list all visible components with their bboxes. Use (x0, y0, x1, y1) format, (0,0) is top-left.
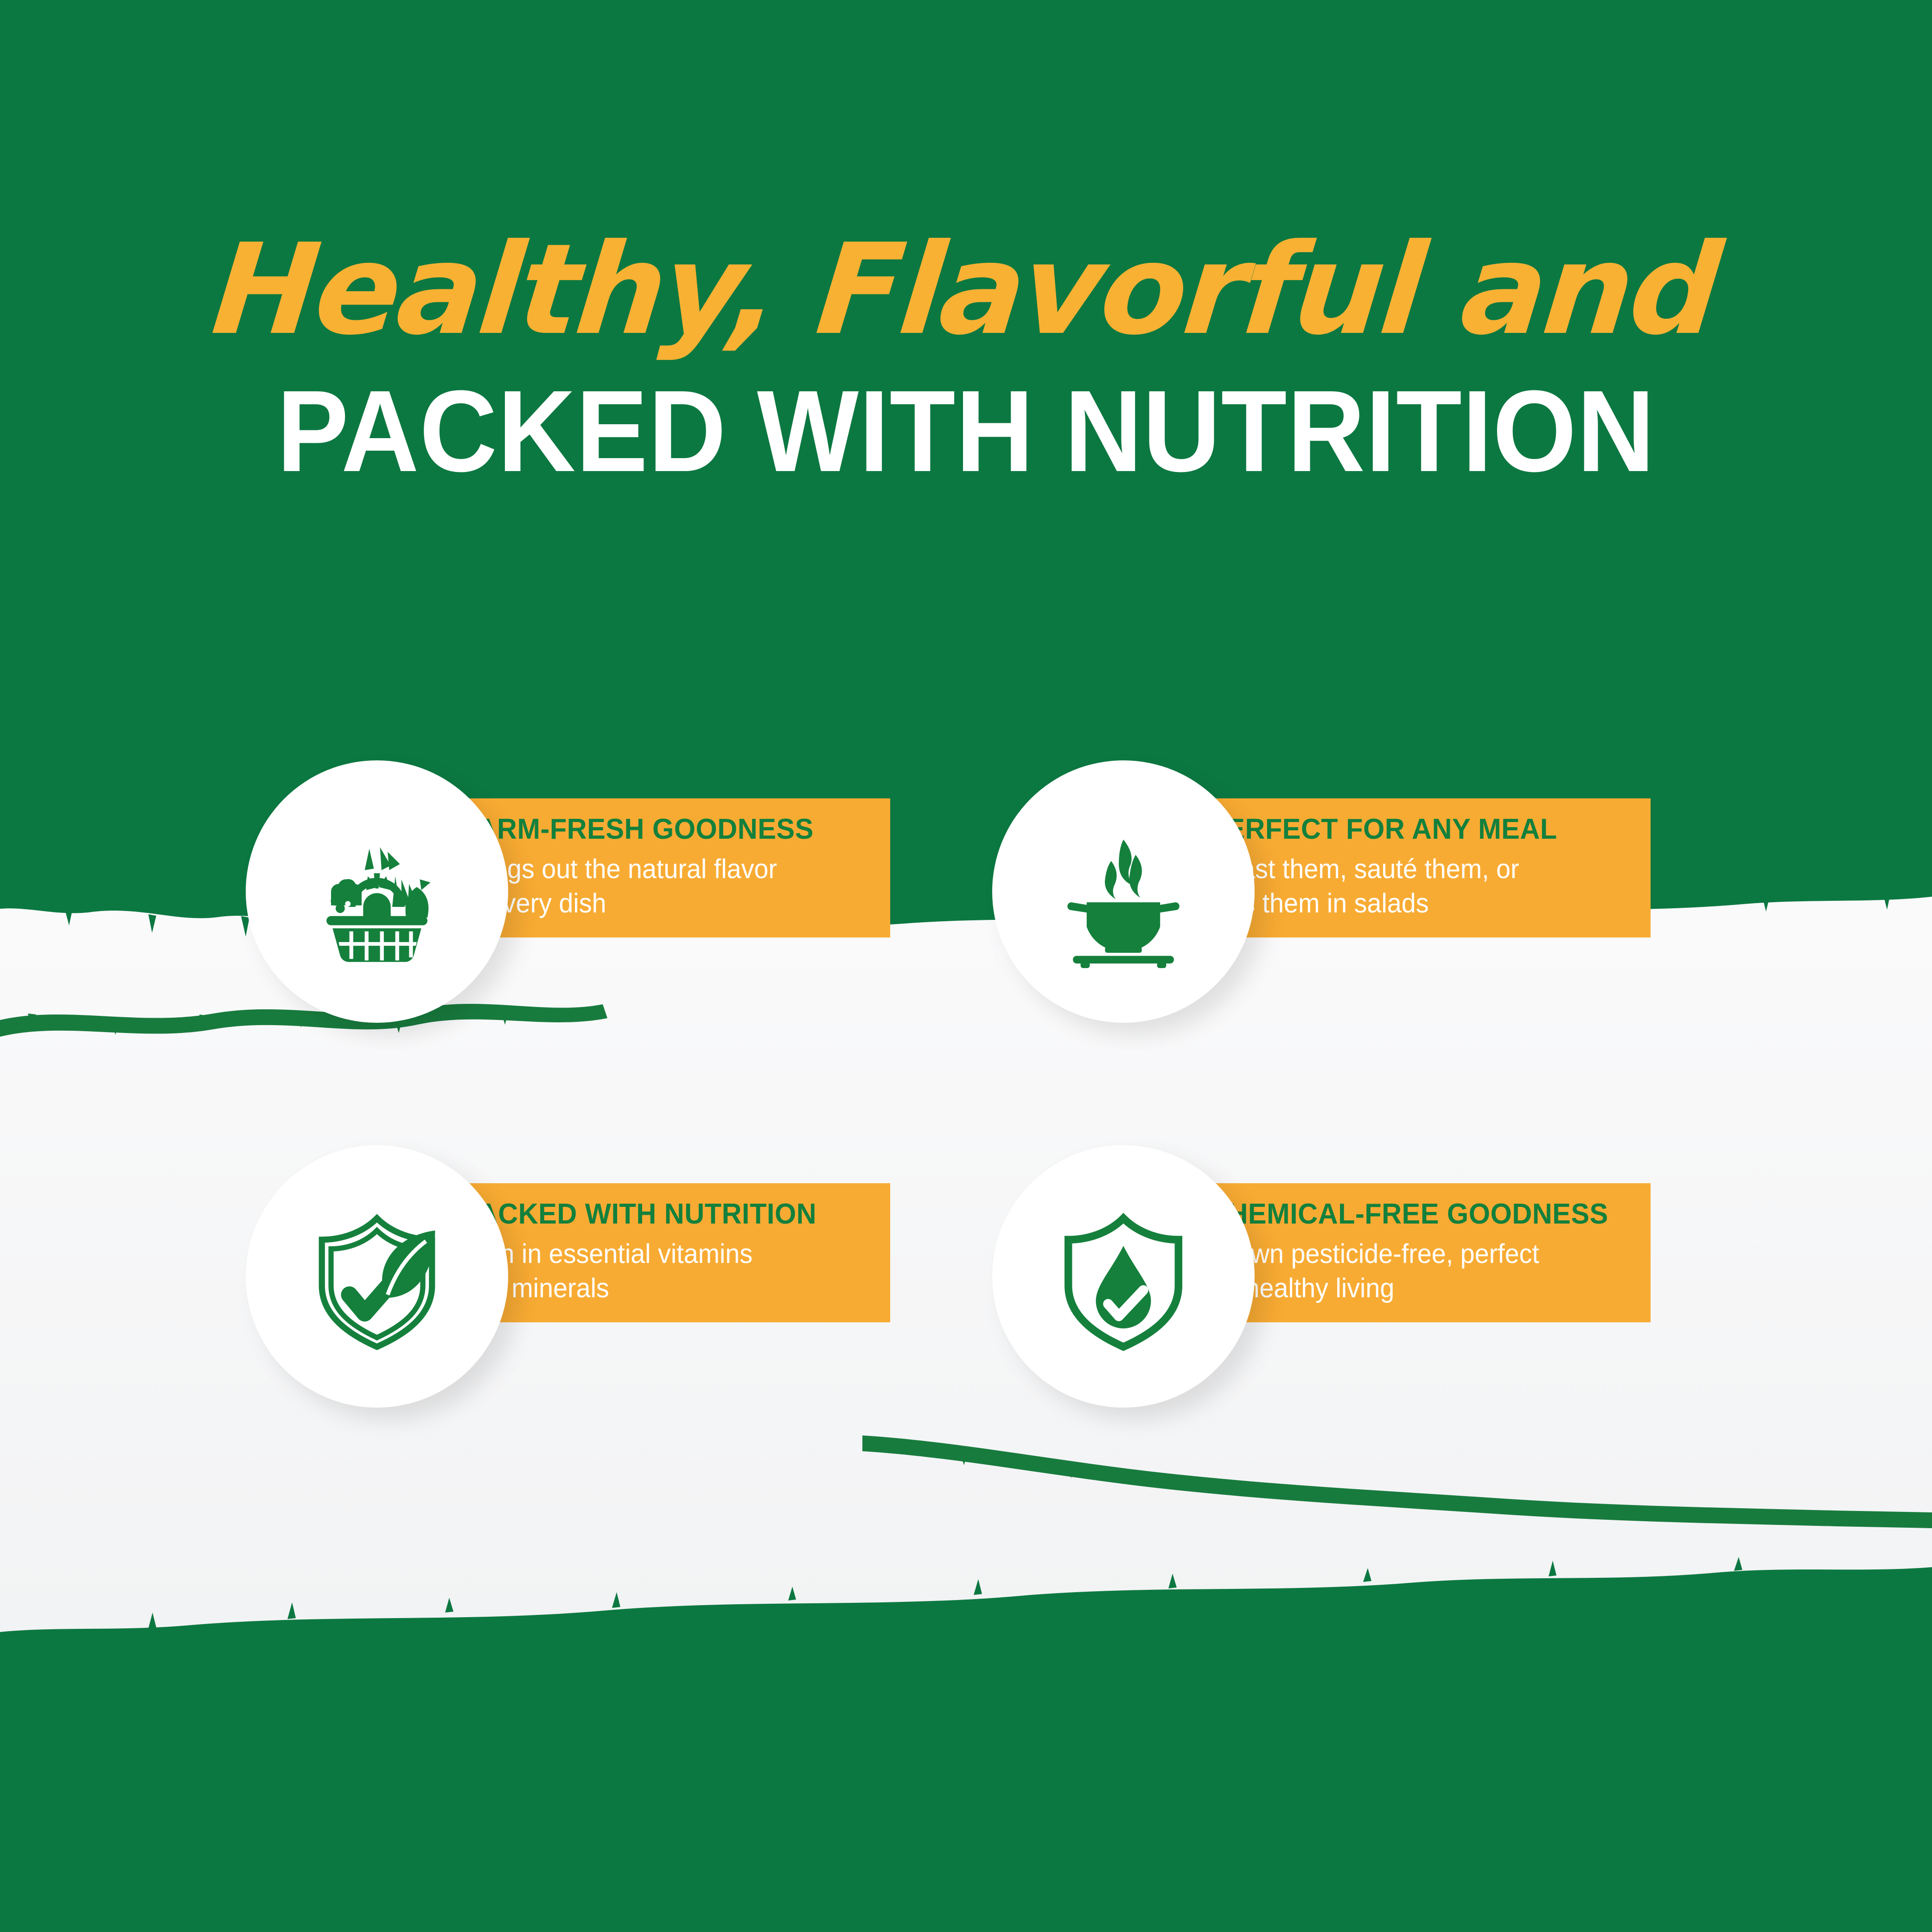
feature-icon-circle (246, 760, 508, 1023)
feature-card[interactable]: PERFECT FOR ANY MEAL Roast them, sauté t… (988, 760, 1822, 1057)
cooking-pot-flame-icon (1047, 815, 1200, 968)
shield-leaf-check-icon (300, 1200, 453, 1353)
headline-script-line: Healthy, Flavorful and (0, 227, 1932, 352)
headline: Healthy, Flavorful and PACKED WITH NUTRI… (0, 227, 1932, 490)
feature-description: High in essential vitamins and minerals (461, 1237, 873, 1306)
feature-icon-circle (992, 1145, 1255, 1408)
band-bottom-torn-edge (0, 1557, 1932, 1932)
feature-card[interactable]: CHEMICAL-FREE GOODNESS Grown pesticide-f… (988, 1145, 1822, 1442)
feature-icon-circle (992, 760, 1255, 1023)
feature-title: PACKED WITH NUTRITION (461, 1200, 873, 1229)
poster-canvas: Healthy, Flavorful and PACKED WITH NUTRI… (0, 0, 1932, 1932)
feature-title: CHEMICAL-FREE GOODNESS (1208, 1200, 1633, 1229)
feature-grid: FARM-FRESH GOODNESS Brings out the natur… (0, 742, 1932, 1484)
feature-description: Roast them, sauté them, or toss them in … (1208, 852, 1633, 921)
feature-title: FARM-FRESH GOODNESS (461, 815, 873, 844)
feature-card[interactable]: PACKED WITH NUTRITION High in essential … (241, 1145, 1076, 1442)
feature-title: PERFECT FOR ANY MEAL (1208, 815, 1633, 844)
shield-droplet-check-icon (1047, 1200, 1200, 1353)
feature-description: Brings out the natural flavor in every d… (461, 852, 873, 921)
feature-description: Grown pesticide-free, perfect for health… (1208, 1237, 1633, 1306)
feature-icon-circle (246, 1145, 508, 1408)
vegetable-basket-icon (300, 815, 453, 968)
feature-card[interactable]: FARM-FRESH GOODNESS Brings out the natur… (241, 760, 1076, 1057)
headline-block-line: PACKED WITH NUTRITION (68, 372, 1864, 490)
